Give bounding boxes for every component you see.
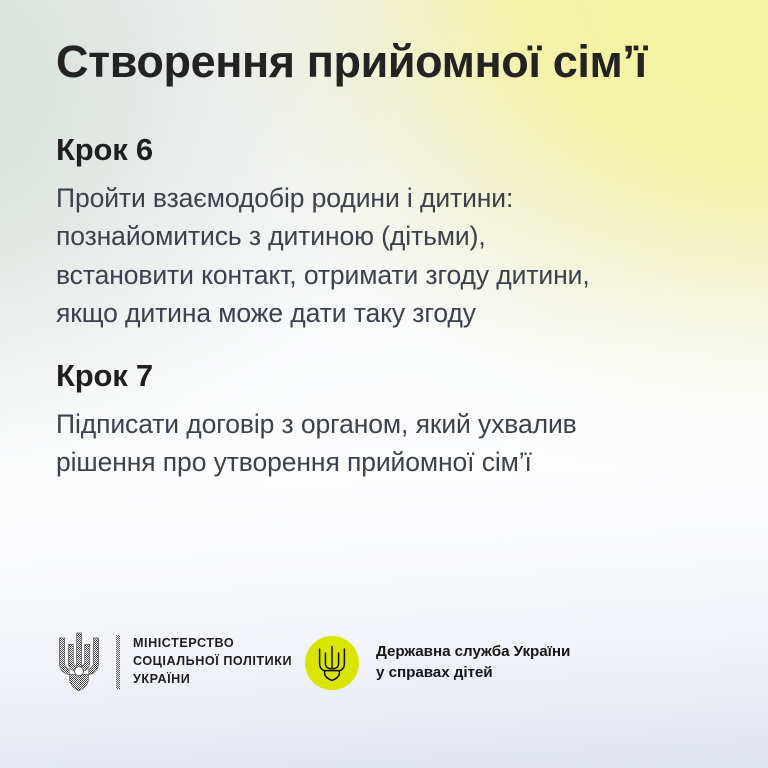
step-block-7: Крок 7 Підписати договір з органом, який… — [56, 357, 736, 482]
service-logo: Державна служба України у справах дітей — [305, 636, 570, 690]
footer: МІНІСТЕРСТВО СОЦІАЛЬНОЇ ПОЛІТИКИ УКРАЇНИ — [0, 618, 768, 768]
step-heading: Крок 7 — [56, 357, 736, 394]
service-logo-label: Державна служба України у справах дітей — [376, 642, 570, 683]
poster-canvas: Створення прийомної сім’ї Крок 6 Пройти … — [0, 0, 768, 768]
step-body: Пройти взаємодобір родини і дитини: позн… — [56, 179, 736, 332]
page-title: Створення прийомної сім’ї — [56, 37, 746, 87]
ukraine-trident-outline-icon — [317, 644, 347, 682]
service-logo-badge — [305, 636, 359, 690]
ministry-logo-label: МІНІСТЕРСТВО СОЦІАЛЬНОЇ ПОЛІТИКИ УКРАЇНИ — [133, 635, 292, 689]
ministry-logo: МІНІСТЕРСТВО СОЦІАЛЬНОЇ ПОЛІТИКИ УКРАЇНИ — [56, 630, 292, 694]
step-block-6: Крок 6 Пройти взаємодобір родини і дитин… — [56, 131, 736, 332]
step-body: Підписати договір з органом, який ухвали… — [56, 405, 736, 481]
vertical-divider-icon — [116, 635, 120, 689]
step-heading: Крок 6 — [56, 131, 736, 168]
ukraine-trident-hatched-icon — [56, 630, 102, 694]
